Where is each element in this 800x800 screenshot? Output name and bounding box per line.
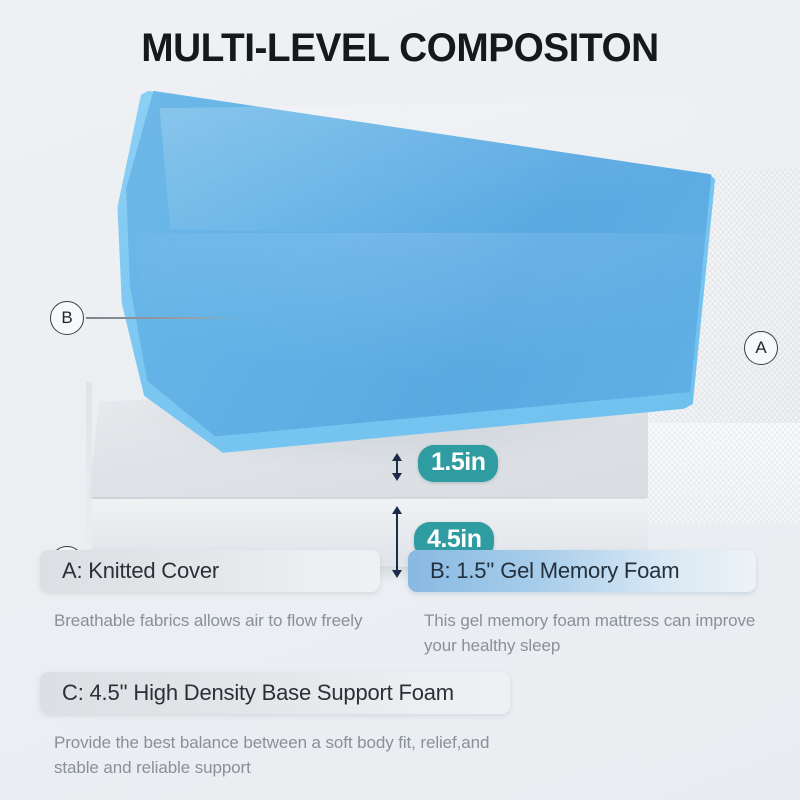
callout-badge-a: A <box>744 331 778 365</box>
legend-section: A: Knitted Cover Breathable fabrics allo… <box>0 534 800 800</box>
callout-badge-b: B <box>50 301 84 335</box>
base-foam-edge-line <box>90 497 646 499</box>
legend-description-a: Breathable fabrics allows air to flow fr… <box>54 608 384 633</box>
legend-description-b: This gel memory foam mattress can improv… <box>424 608 764 658</box>
legend-heading-b: B: 1.5'' Gel Memory Foam <box>408 550 756 592</box>
gel-foam-sheen <box>160 100 693 241</box>
mattress-illustration: 1.5in 4.5in B C A <box>0 80 800 530</box>
page-title: MULTI-LEVEL COMPOSITON <box>12 26 788 71</box>
legend-heading-a: A: Knitted Cover <box>40 550 380 592</box>
gel-memory-foam-slab <box>110 85 730 455</box>
legend-heading-c: C: 4.5'' High Density Base Support Foam <box>40 672 510 714</box>
gel-foam-curve-shading <box>110 233 730 462</box>
legend-description-c: Provide the best balance between a soft … <box>54 730 524 780</box>
infographic-page: MULTI-LEVEL COMPOSITON 1.5in 4.5in B C <box>0 0 800 800</box>
gel-foam-dimension-arrow <box>396 460 398 474</box>
callout-leader-line-b <box>86 317 238 319</box>
dimension-pill-gel: 1.5in <box>418 445 498 482</box>
